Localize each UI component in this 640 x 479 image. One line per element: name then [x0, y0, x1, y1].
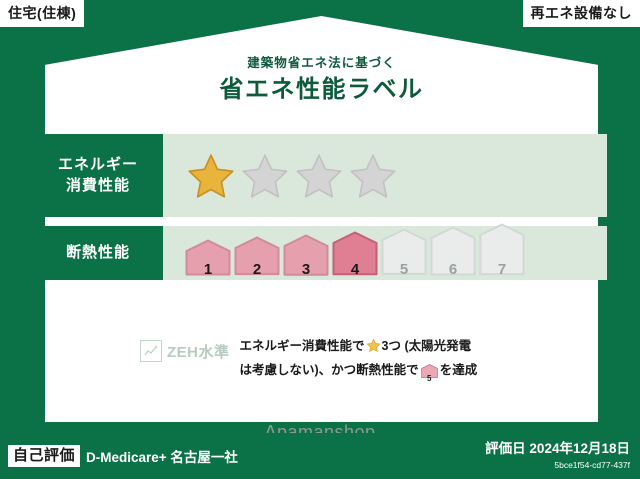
energy-performance-label: エネルギー 消費性能: [33, 134, 163, 217]
energy-performance-row: エネルギー 消費性能: [33, 134, 607, 217]
star-rating: [185, 151, 399, 201]
star-icon-empty: [239, 151, 291, 201]
house-level-2: 2: [234, 236, 280, 281]
zeh-text-2b: を達成: [440, 363, 478, 377]
zeh-text-1a: エネルギー消費性能で: [240, 339, 365, 353]
house-level-4: 4: [332, 231, 378, 281]
star-icon-empty: [347, 151, 399, 201]
page-title: 省エネ性能ラベル: [45, 76, 598, 105]
house-level-number: 4: [332, 262, 378, 277]
house-level-number: 6: [430, 262, 476, 277]
building-type-tag: 住宅(住棟): [0, 0, 87, 27]
footer-bar: 自己評価 D-Medicare+ 名古屋一社 評価日 2024年12月18日 5…: [0, 433, 640, 479]
insulation-performance-label: 断熱性能: [33, 226, 163, 280]
energy-label-line1: エネルギー: [58, 155, 138, 175]
zeh-label: ZEH水準: [167, 341, 230, 362]
house-level-number: 1: [185, 262, 231, 277]
house-level-6: 6: [430, 226, 476, 281]
house-icon: 5: [421, 364, 438, 385]
zeh-text-1b: 3つ (太陽光発電: [382, 339, 472, 353]
house-level-scale: 1234567: [185, 223, 525, 283]
zeh-text-2a: は考慮しない)、かつ断熱性能で: [240, 363, 419, 377]
house-level-number: 2: [234, 262, 280, 277]
label-title-block: 建築物省エネ法に基づく 省エネ性能ラベル: [45, 56, 598, 105]
ratings-container: エネルギー 消費性能 断熱性能 1234567: [33, 134, 607, 289]
evaluation-meta: 評価日 2024年12月18日 5bce1f54-cd77-437f: [485, 441, 630, 470]
star-icon: [366, 342, 381, 356]
house-level-5: 5: [381, 228, 427, 280]
house-level-number: 7: [479, 262, 525, 277]
energy-label-line2: 消費性能: [66, 176, 130, 196]
zeh-house-level: 5: [421, 375, 438, 383]
zeh-badge: ZEH水準: [140, 336, 230, 362]
zeh-description: エネルギー消費性能で3つ (太陽光発電 は考慮しない)、かつ断熱性能で5を達成: [240, 336, 478, 384]
insulation-performance-row: 断熱性能 1234567: [33, 226, 607, 280]
insulation-label-line1: 断熱性能: [66, 243, 130, 263]
energy-performance-value: [163, 134, 607, 217]
house-level-number: 3: [283, 262, 329, 277]
issuer-name: D-Medicare+ 名古屋一社: [86, 446, 238, 466]
evaluation-id: 5bce1f54-cd77-437f: [485, 460, 630, 471]
house-level-3: 3: [283, 234, 329, 281]
house-level-1: 1: [185, 239, 231, 281]
title-subtitle: 建築物省エネ法に基づく: [45, 56, 598, 71]
zeh-note: ZEH水準 エネルギー消費性能で3つ (太陽光発電 は考慮しない)、かつ断熱性能…: [140, 336, 560, 384]
star-icon-empty: [293, 151, 345, 201]
house-level-7: 7: [479, 223, 525, 281]
insulation-performance-value: 1234567: [163, 226, 607, 280]
evaluation-date: 評価日 2024年12月18日: [485, 441, 630, 457]
self-evaluation-badge: 自己評価: [8, 445, 80, 468]
star-icon-filled: [185, 151, 237, 201]
renewable-energy-tag: 再エネ設備なし: [520, 0, 640, 27]
zeh-chart-icon: [140, 340, 162, 362]
house-level-number: 5: [381, 262, 427, 277]
